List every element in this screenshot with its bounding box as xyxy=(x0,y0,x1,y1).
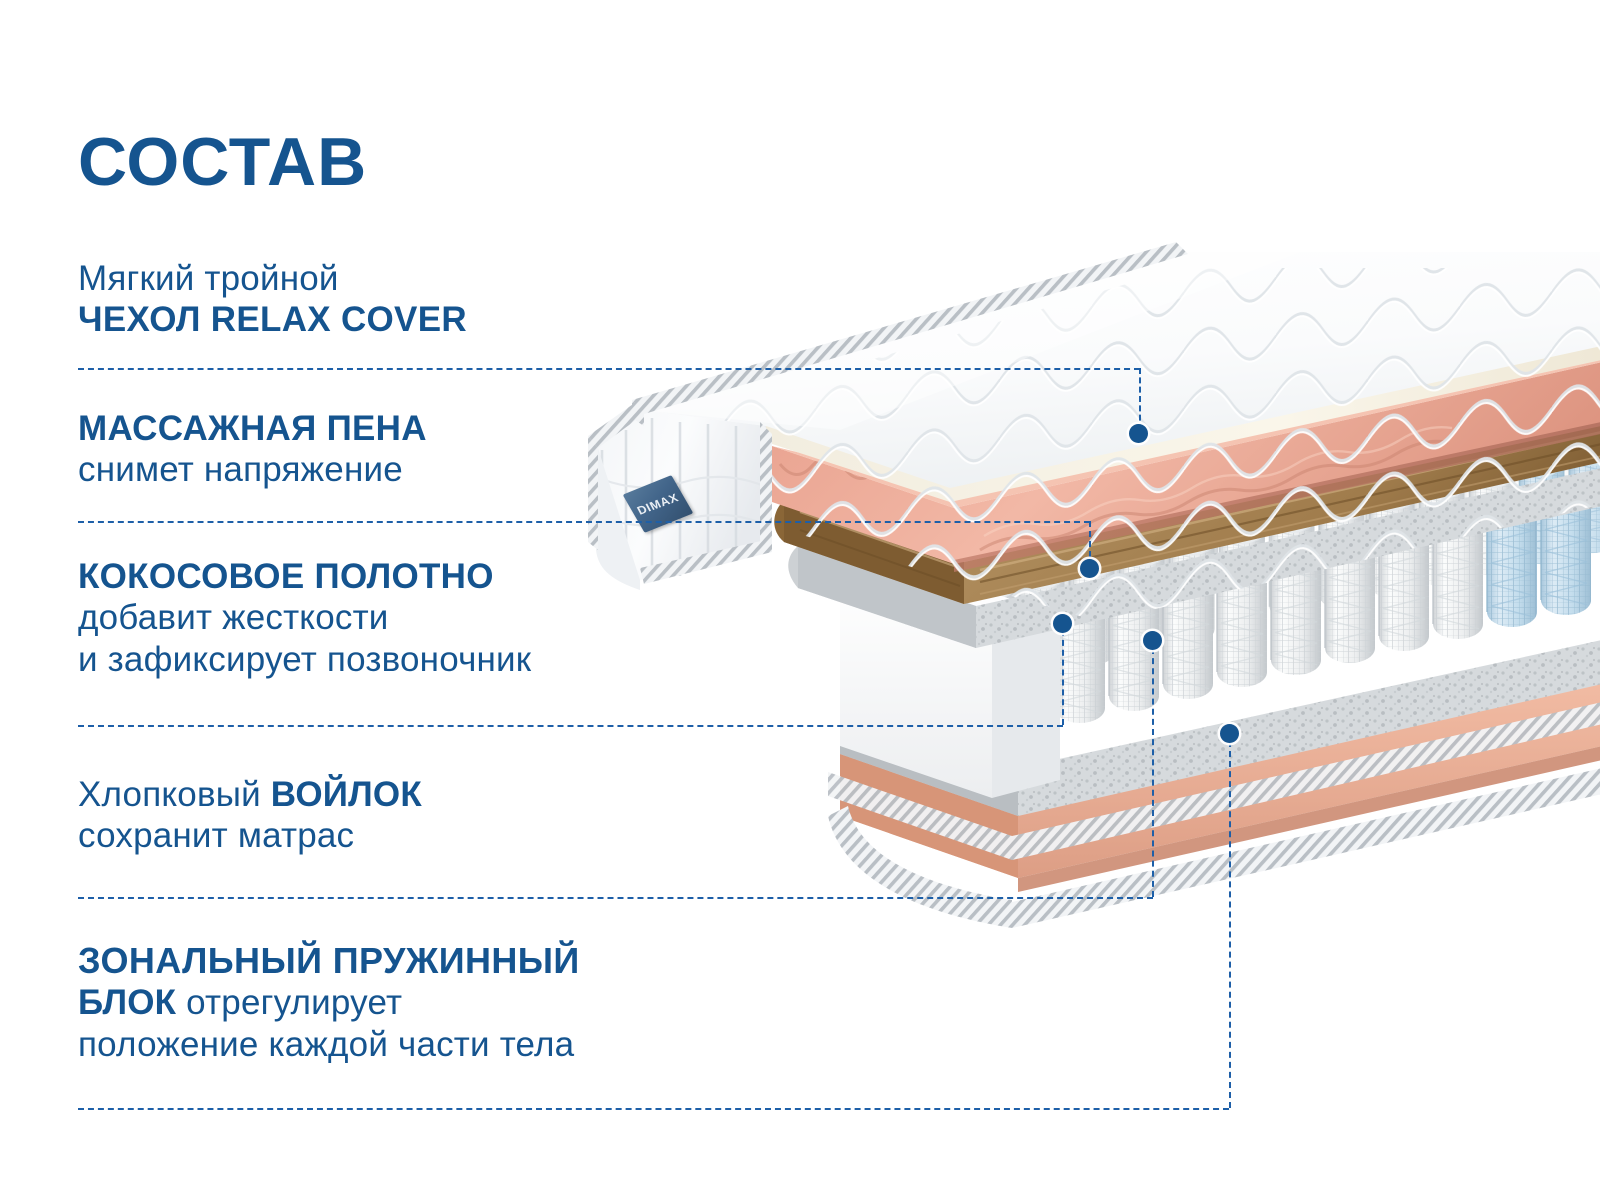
callout-springs-line2-post: отрегулирует xyxy=(176,983,402,1022)
callout-zonal-spring-block: ЗОНАЛЬНЫЙ ПРУЖИННЫЙ БЛОК отрегулирует по… xyxy=(78,940,580,1065)
callout-foam-line1: МАССАЖНАЯ ПЕНА xyxy=(78,408,427,449)
callout-springs-keyword: БЛОК xyxy=(78,983,176,1022)
infographic-canvas: СОСТАВ Мягкий тройной ЧЕХОЛ RELAX COVER … xyxy=(0,0,1600,1200)
callout-felt-keyword: ВОЙЛОК xyxy=(271,775,422,814)
leader-felt-vertical xyxy=(1152,648,1154,897)
leader-springs-horizontal xyxy=(78,1108,1229,1110)
mattress-cutaway-illustration xyxy=(540,250,1600,940)
leader-coir-dot xyxy=(1053,614,1072,633)
callout-springs-line2: БЛОК отрегулирует xyxy=(78,982,580,1023)
leader-cover-vertical xyxy=(1139,368,1141,430)
leader-springs-dot xyxy=(1220,724,1239,743)
callout-massage-foam: МАССАЖНАЯ ПЕНА снимет напряжение xyxy=(78,408,427,491)
leader-felt-horizontal xyxy=(78,897,1153,899)
callout-springs-line3: положение каждой части тела xyxy=(78,1024,580,1065)
leader-coir-vertical xyxy=(1062,630,1064,725)
callout-felt-prefix: Хлопковый xyxy=(78,775,271,814)
leader-cover-horizontal xyxy=(78,368,1140,370)
callout-cover-line1: Мягкий тройной xyxy=(78,258,467,299)
leader-foam-dot xyxy=(1080,559,1099,578)
page-title: СОСТАВ xyxy=(78,128,367,196)
callout-springs-line1: ЗОНАЛЬНЫЙ ПРУЖИННЫЙ xyxy=(78,940,580,982)
callout-relax-cover: Мягкий тройной ЧЕХОЛ RELAX COVER xyxy=(78,258,467,341)
callout-felt-line2: сохранит матрас xyxy=(78,815,422,856)
brand-tag-label: DIMAX xyxy=(635,491,681,518)
callout-coconut-coir: КОКОСОВОЕ ПОЛОТНО добавит жесткости и за… xyxy=(78,556,531,680)
leader-foam-horizontal xyxy=(78,521,1090,523)
leader-springs-vertical xyxy=(1229,741,1231,1108)
callout-felt-line1: Хлопковый ВОЙЛОК xyxy=(78,774,422,815)
callout-coir-line1: КОКОСОВОЕ ПОЛОТНО xyxy=(78,556,531,597)
leader-felt-dot xyxy=(1143,631,1162,650)
callout-foam-line2: снимет напряжение xyxy=(78,449,427,490)
callout-cover-line2: ЧЕХОЛ RELAX COVER xyxy=(78,299,467,340)
leader-coir-horizontal xyxy=(78,725,1063,727)
callout-cotton-felt: Хлопковый ВОЙЛОК сохранит матрас xyxy=(78,774,422,857)
callout-coir-line2: добавит жесткости xyxy=(78,597,531,638)
callout-coir-line3: и зафиксирует позвоночник xyxy=(78,639,531,680)
leader-cover-dot xyxy=(1129,424,1148,443)
